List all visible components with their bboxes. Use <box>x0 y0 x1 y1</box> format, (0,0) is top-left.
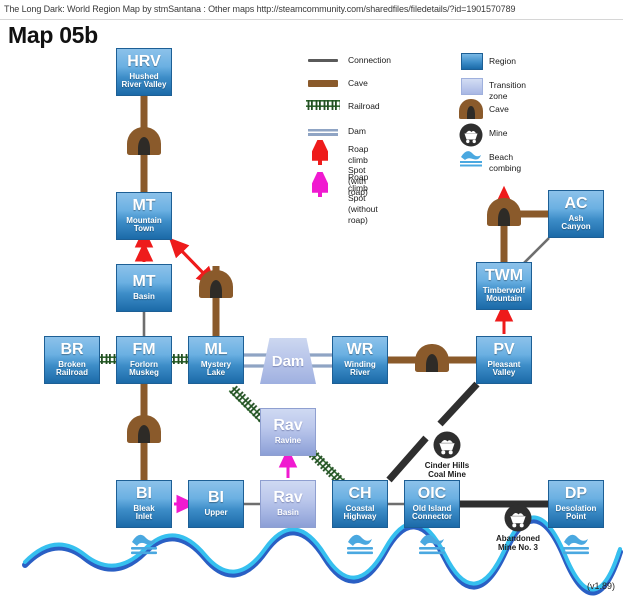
map-node-dam[interactable]: Dam <box>260 338 316 384</box>
node-abbr: CH <box>348 486 371 503</box>
beach-combing-icon <box>417 531 447 555</box>
node-sublabel: PleasantValley <box>488 361 521 378</box>
node-sublabel: Basin <box>277 509 299 517</box>
legend-swatch-connection <box>308 59 338 62</box>
legend-label-railroad: Railroad <box>348 101 380 112</box>
rope-arrows-red <box>144 196 504 334</box>
node-sublabel: WindingRiver <box>344 361 375 378</box>
node-abbr: AC <box>564 196 587 213</box>
node-abbr: Rav <box>273 490 302 507</box>
legend-label-transition: Transition zone <box>489 80 526 101</box>
legend-swatch-region <box>461 53 483 70</box>
legend-label-cave-icon: Cave <box>489 104 509 115</box>
node-sublabel: AshCanyon <box>561 215 590 232</box>
node-sublabel: Ravine <box>275 437 301 445</box>
node-abbr: OIC <box>418 486 446 503</box>
beach-combing-icon <box>345 531 375 555</box>
node-abbr: Dam <box>272 353 305 370</box>
map-node-ravb[interactable]: RavBasin <box>260 480 316 528</box>
map-page: The Long Dark: World Region Map by stmSa… <box>0 0 623 599</box>
legend-label-mine-icon: Mine <box>489 128 507 139</box>
node-abbr: WR <box>347 342 374 359</box>
node-abbr: FM <box>132 342 155 359</box>
map-node-br[interactable]: BRBrokenRailroad <box>44 336 100 384</box>
mine-label: Cinder HillsCoal Mine <box>397 461 497 479</box>
mine-label: AbandonedMine No. 3 <box>468 534 568 552</box>
legend-label-cave-line: Cave <box>348 78 368 89</box>
map-node-twm[interactable]: TWMTimberwolfMountain <box>476 262 532 310</box>
node-abbr: TWM <box>485 268 523 285</box>
beach-combing-icon <box>561 531 591 555</box>
node-abbr: BI <box>136 486 152 503</box>
map-node-fm[interactable]: FMForlornMuskeg <box>116 336 172 384</box>
node-abbr: BR <box>60 342 83 359</box>
map-node-pv[interactable]: PVPleasantValley <box>476 336 532 384</box>
cave-icon-hrv-mt <box>127 127 161 155</box>
cave-icon-wr-pv <box>415 344 449 372</box>
node-abbr: HRV <box>127 54 161 71</box>
beach-combing-icon <box>129 531 159 555</box>
node-sublabel: Upper <box>204 509 227 517</box>
legend-swatch-cave-icon <box>459 99 483 119</box>
legend-swatch-mine-icon <box>459 123 483 147</box>
node-sublabel: MountainTown <box>126 217 162 234</box>
mine-icon <box>504 504 532 532</box>
node-abbr: MT <box>132 198 155 215</box>
map-node-rav[interactable]: RavRavine <box>260 408 316 456</box>
map-node-bi[interactable]: BIBleakInlet <box>116 480 172 528</box>
cave-icon-ml-mt <box>199 270 233 298</box>
cave-icon-fm-bi <box>127 415 161 443</box>
node-sublabel: Old IslandConnector <box>412 505 452 522</box>
map-node-hrv[interactable]: HRVHushedRiver Valley <box>116 48 172 96</box>
node-sublabel: MysteryLake <box>201 361 231 378</box>
node-sublabel: TimberwolfMountain <box>483 287 526 304</box>
legend-label-rope-without: Roap climb Spot (without roap) <box>348 172 378 225</box>
legend-swatch-rope-without <box>312 172 328 198</box>
map-node-dp[interactable]: DPDesolationPoint <box>548 480 604 528</box>
node-sublabel: DesolationPoint <box>556 505 597 522</box>
node-abbr: PV <box>493 342 514 359</box>
legend-swatch-railroad <box>306 99 340 111</box>
legend-swatch-dam <box>308 129 338 136</box>
node-abbr: DP <box>565 486 587 503</box>
legend-swatch-beach-icon <box>458 148 484 168</box>
legend-label-beach-icon: Beach combing <box>489 152 521 173</box>
node-abbr: BI <box>208 490 224 507</box>
legend-label-connection: Connection <box>348 55 391 66</box>
legend-label-dam: Dam <box>348 126 366 137</box>
legend-swatch-transition <box>461 78 483 95</box>
mine-icon <box>433 431 461 459</box>
map-node-biu[interactable]: BIUpper <box>188 480 244 528</box>
legend-swatch-rope-with <box>312 140 328 166</box>
map-node-ac[interactable]: ACAshCanyon <box>548 190 604 238</box>
node-sublabel: BrokenRailroad <box>56 361 88 378</box>
node-abbr: MT <box>132 274 155 291</box>
node-sublabel: HushedRiver Valley <box>122 73 167 90</box>
node-abbr: ML <box>204 342 227 359</box>
legend-label-region: Region <box>489 56 516 67</box>
node-sublabel: BleakInlet <box>133 505 154 522</box>
map-node-wr[interactable]: WRWindingRiver <box>332 336 388 384</box>
map-node-mt[interactable]: MTMountainTown <box>116 192 172 240</box>
map-node-ch[interactable]: CHCoastalHighway <box>332 480 388 528</box>
map-node-ml[interactable]: MLMysteryLake <box>188 336 244 384</box>
map-node-mtb[interactable]: MTBasin <box>116 264 172 312</box>
legend-swatch-cave-line <box>308 80 338 87</box>
node-sublabel: ForlornMuskeg <box>129 361 159 378</box>
version-label: (v1.89) <box>587 581 615 591</box>
node-sublabel: CoastalHighway <box>344 505 377 522</box>
node-sublabel: Basin <box>133 293 155 301</box>
cave-icon-twm-ac <box>487 198 521 226</box>
node-abbr: Rav <box>273 418 302 435</box>
map-node-oic[interactable]: OICOld IslandConnector <box>404 480 460 528</box>
